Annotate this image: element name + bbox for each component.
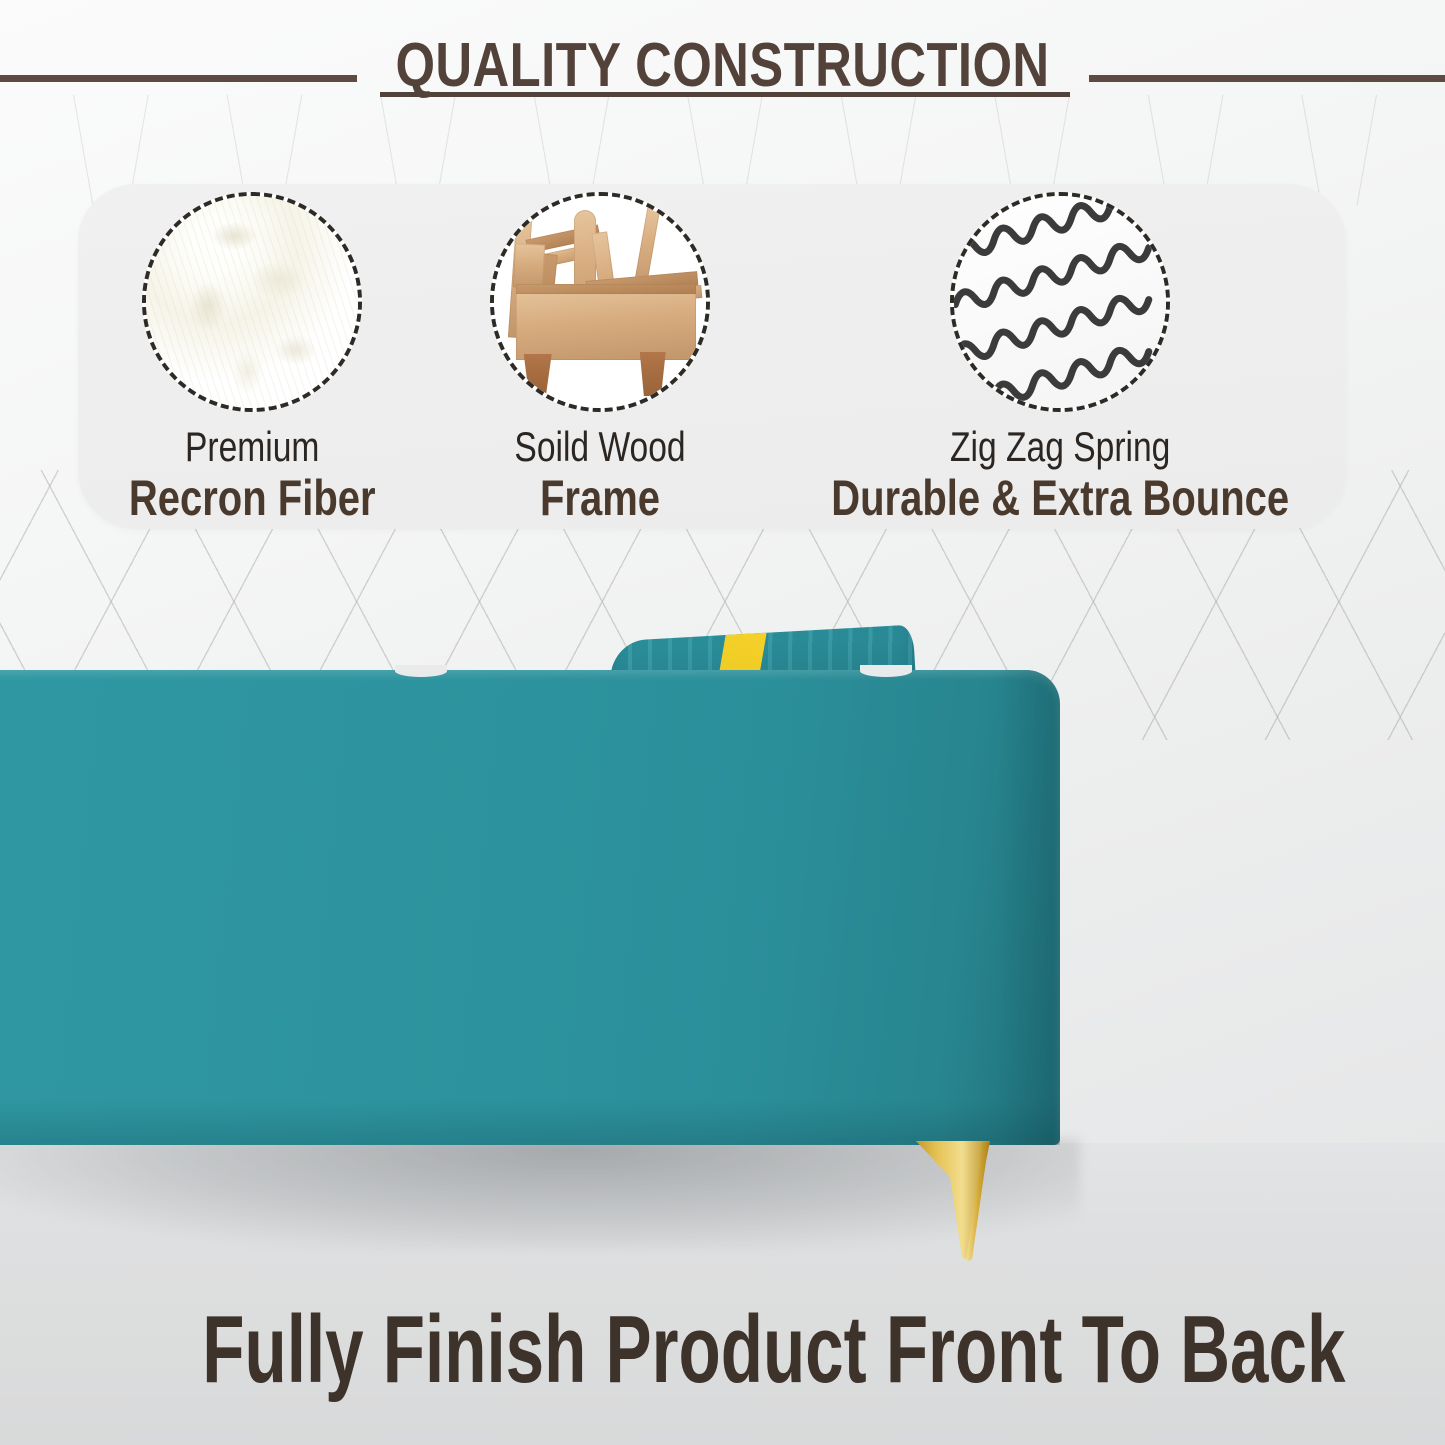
feature-label-line1: Soild Wood <box>514 426 685 469</box>
feature-label-line1: Premium <box>129 426 376 469</box>
feature-label: Zig Zag Spring Durable & Extra Bounce <box>774 426 1346 524</box>
feature-label-line2: Recron Fiber <box>129 473 376 524</box>
feature-item-recron-fiber: Premium Recron Fiber <box>78 184 426 529</box>
recron-fiber-icon <box>142 192 362 412</box>
zig-zag-spring-icon <box>950 192 1170 412</box>
bottom-caption: Fully Finish Product Front To Back <box>202 1300 1242 1400</box>
feature-label-line1: Zig Zag Spring <box>831 426 1289 469</box>
product-sofa <box>0 615 1120 1265</box>
feature-item-zig-zag-spring: Zig Zag Spring Durable & Extra Bounce <box>774 184 1346 529</box>
page-title: QUALITY CONSTRUCTION <box>130 32 1315 100</box>
solid-wood-frame-icon <box>490 192 710 412</box>
infographic-canvas: QUALITY CONSTRUCTION Premium Recron Fibe… <box>0 0 1445 1445</box>
sofa-back-panel <box>0 670 1060 1145</box>
feature-label: Soild Wood Frame <box>493 426 707 524</box>
feature-list: Premium Recron Fiber <box>78 184 1346 529</box>
feature-label-line2: Durable & Extra Bounce <box>831 473 1289 524</box>
header-title-underline <box>380 92 1070 97</box>
feature-label: Premium Recron Fiber <box>98 426 406 524</box>
feature-label-line2: Frame <box>514 473 685 524</box>
feature-item-solid-wood-frame: Soild Wood Frame <box>426 184 774 529</box>
